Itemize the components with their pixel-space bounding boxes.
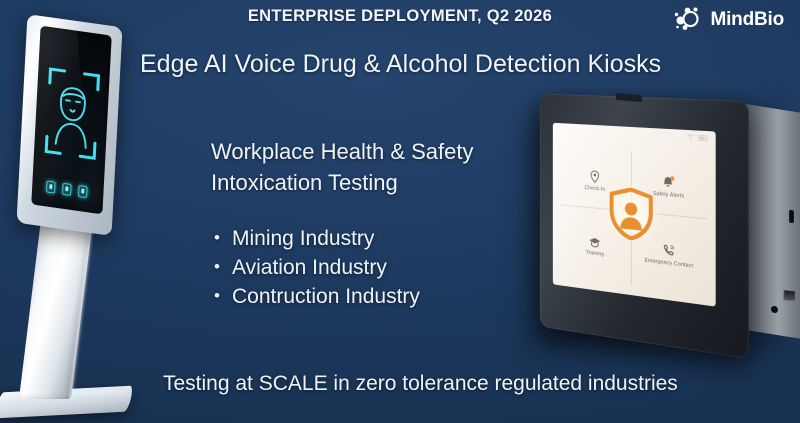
kiosk-column [19, 219, 93, 399]
mindbio-logo: MindBio [674, 5, 784, 35]
list-item: Aviation Industry [212, 253, 420, 282]
tablet-center-badge[interactable] [604, 181, 659, 248]
slide-canvas: ENTERPRISE DEPLOYMENT, Q2 2026 MindBio [0, 0, 800, 423]
slide-tagline: Testing at SCALE in zero tolerance regul… [163, 372, 678, 396]
molecule-dots-icon [674, 5, 704, 35]
list-item: Contruction Industry [212, 282, 420, 311]
tablet-tile-label: Check-In [585, 185, 606, 193]
tablet-tile-label: Emergency Contact [644, 258, 693, 271]
shield-person-icon [609, 187, 653, 243]
list-item: Mining Industry [212, 224, 420, 253]
logo-wordmark: MindBio [710, 9, 784, 31]
location-pin-icon [590, 170, 600, 184]
bell-alert-icon [662, 176, 675, 190]
tablet-tile-label: Training [586, 250, 605, 259]
safety-tablet-image: Check-In Safety Alerts Training [518, 92, 800, 352]
tablet-usb-port [783, 289, 795, 301]
subheadline-line-1: Workplace Health & Safety [211, 136, 474, 167]
slide-subheadline: Workplace Health & Safety Intoxication T… [211, 136, 474, 198]
kiosk-display [31, 26, 111, 215]
tablet-side-port [789, 210, 794, 223]
graduation-cap-icon [589, 237, 601, 249]
industry-bullet-list: Mining Industry Aviation Industry Contru… [212, 224, 420, 311]
tablet-audio-jack [771, 306, 778, 314]
slide-headline: Edge AI Voice Drug & Alcohol Detection K… [140, 50, 661, 79]
tablet-display: Check-In Safety Alerts Training [553, 123, 716, 307]
subheadline-line-2: Intoxication Testing [211, 167, 474, 198]
phone-ringing-icon [662, 244, 675, 259]
